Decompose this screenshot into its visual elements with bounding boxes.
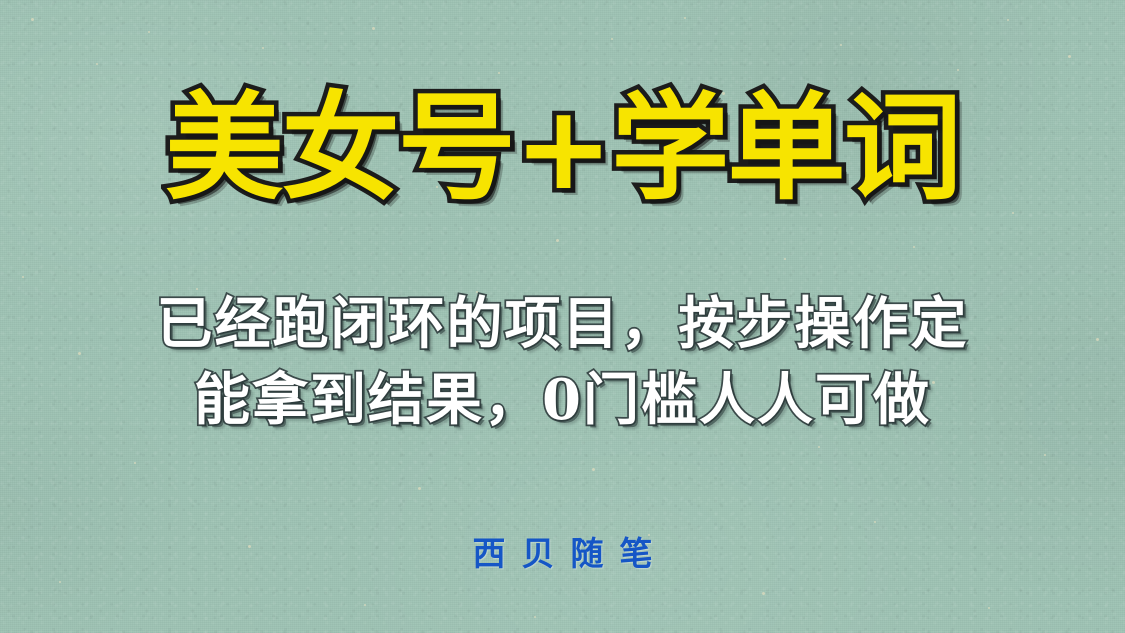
page-title: 美女号+学单词: [165, 88, 960, 211]
subtitle-block: 已经跑闭环的项目，按步操作定 能拿到结果，0门槛人人可做: [0, 286, 1125, 438]
title-block: 美女号+学单词: [0, 88, 1125, 211]
poster-canvas: 美女号+学单词 已经跑闭环的项目，按步操作定 能拿到结果，0门槛人人可做 西贝随…: [0, 0, 1125, 633]
author-signature: 西贝随笔: [0, 527, 1125, 575]
subtitle-line-2: 能拿到结果，0门槛人人可做: [0, 362, 1125, 438]
subtitle-line-1: 已经跑闭环的项目，按步操作定: [0, 286, 1125, 362]
